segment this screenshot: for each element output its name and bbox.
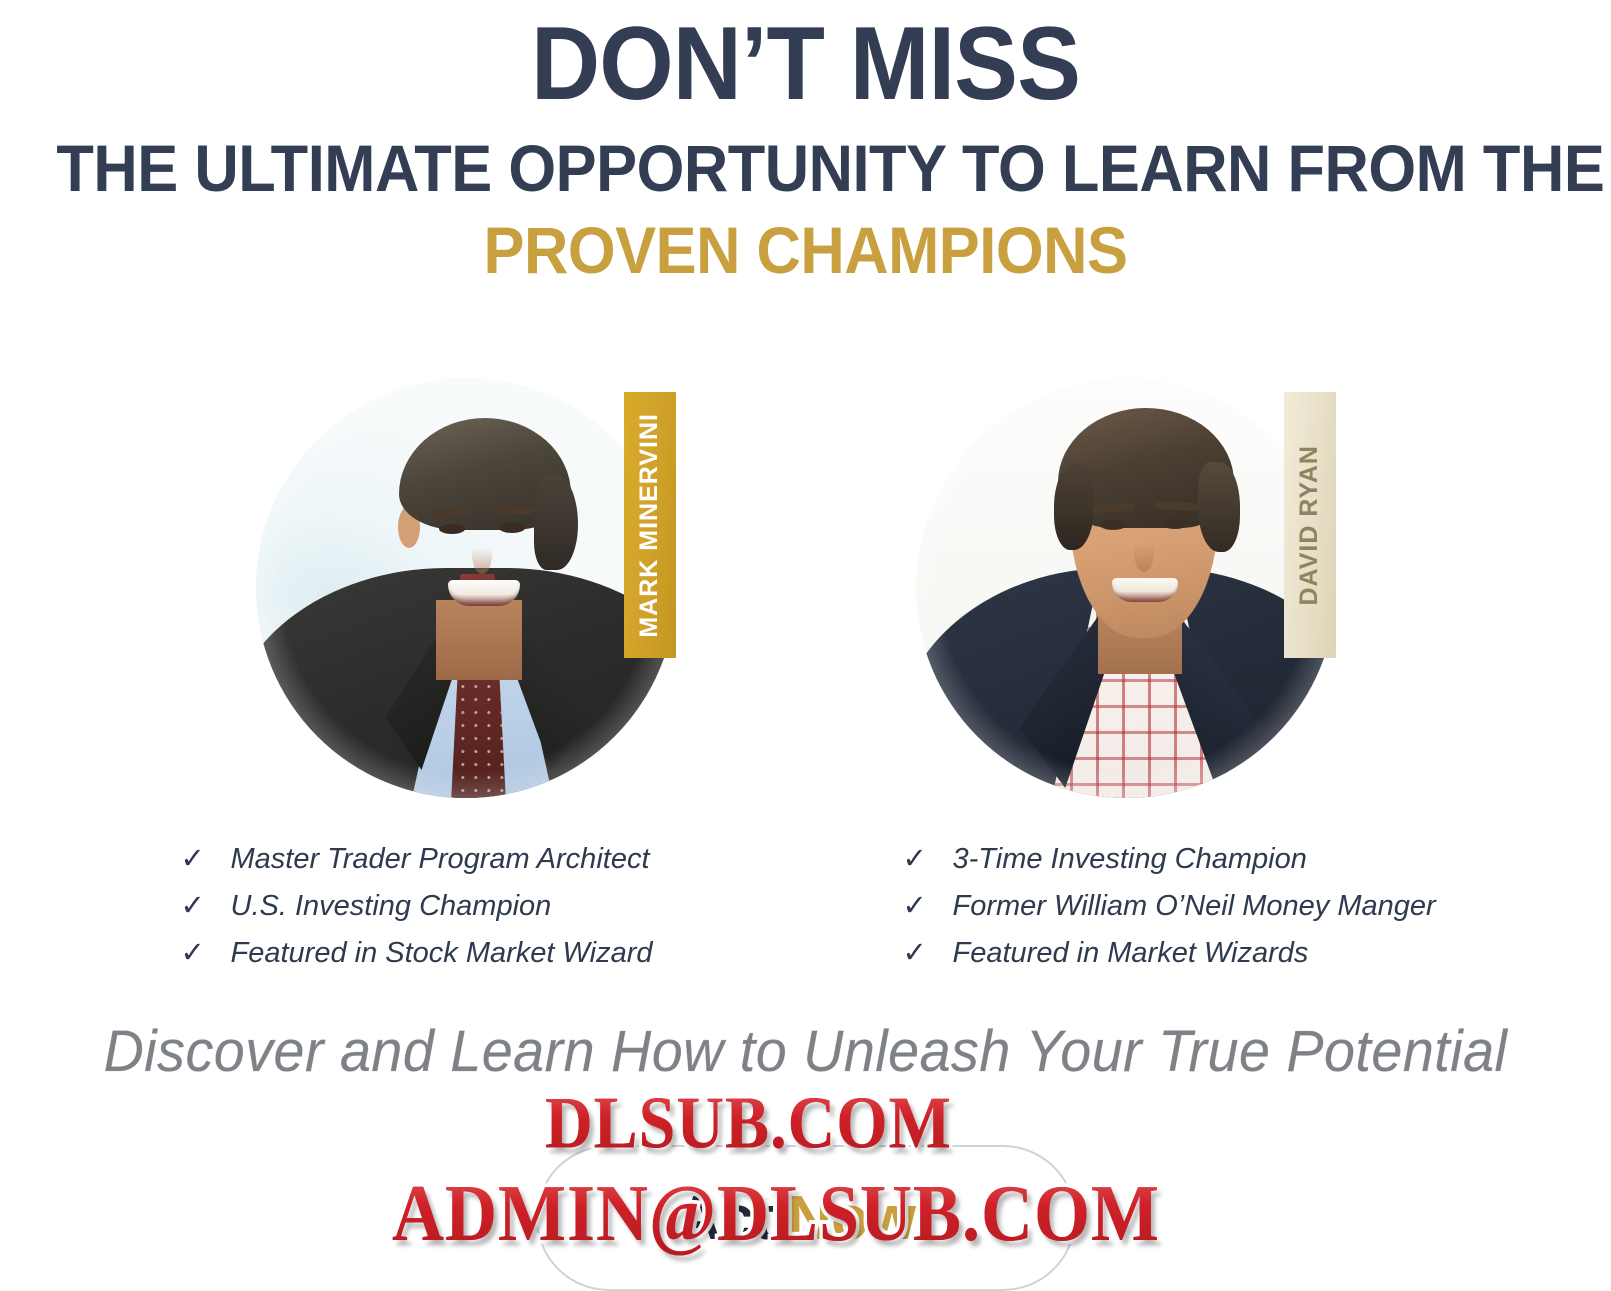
photo-hair-side <box>534 474 578 570</box>
bullet-list-david-ryan: ✓ 3-Time Investing Champion ✓ Former Wil… <box>889 842 1449 983</box>
list-item: ✓ Featured in Market Wizards <box>903 936 1449 970</box>
speaker-card-mark-minervini: MARK MINERVINI <box>226 378 726 818</box>
check-icon: ✓ <box>903 939 927 968</box>
photo-eye-right <box>499 523 525 533</box>
list-item: ✓ Former William O’Neil Money Manger <box>903 889 1449 923</box>
portrait-wrap-david-ryan: DAVID RYAN <box>916 378 1356 818</box>
speaker-photo-david-ryan <box>916 378 1336 798</box>
speaker-photo-mark-minervini <box>256 378 676 798</box>
photo-nose <box>1134 532 1154 572</box>
bullet-list-mark-minervini: ✓ Master Trader Program Architect ✓ U.S.… <box>163 842 723 983</box>
photo-mouth <box>1112 578 1178 602</box>
headline-line-1: DON’T MISS <box>64 8 1546 120</box>
bullet-label: 3-Time Investing Champion <box>953 842 1307 876</box>
name-banner-mark-minervini: MARK MINERVINI <box>624 392 676 658</box>
check-icon: ✓ <box>903 892 927 921</box>
bullet-label: Former William O’Neil Money Manger <box>953 889 1436 923</box>
photo-nose <box>472 536 492 574</box>
list-item: ✓ U.S. Investing Champion <box>181 889 723 923</box>
watermark-site-url-fill: DLSUB.COM <box>545 1081 952 1166</box>
name-banner-label: DAVID RYAN <box>1295 445 1324 606</box>
headline-line-2: THE ULTIMATE OPPORTUNITY TO LEARN FROM T… <box>56 130 1554 206</box>
bullet-label: Master Trader Program Architect <box>231 842 650 876</box>
watermark-email-fill: ADMIN@DLSUB.COM <box>392 1167 1160 1260</box>
headline-line-3: PROVEN CHAMPIONS <box>56 212 1554 288</box>
photo-eye-left <box>439 524 465 534</box>
bullet-label: Featured in Market Wizards <box>953 936 1309 970</box>
photo-eye-right <box>1162 519 1188 529</box>
photo-hair-side-right <box>1198 462 1240 552</box>
check-icon: ✓ <box>181 845 205 874</box>
photo-mouth <box>448 580 520 606</box>
headline-block: DON’T MISS THE ULTIMATE OPPORTUNITY TO L… <box>0 0 1611 288</box>
list-item: ✓ 3-Time Investing Champion <box>903 842 1449 876</box>
tagline: Discover and Learn How to Unleash Your T… <box>32 1018 1579 1086</box>
bullet-label: U.S. Investing Champion <box>231 889 552 923</box>
bullets-row: ✓ Master Trader Program Architect ✓ U.S.… <box>0 842 1611 983</box>
check-icon: ✓ <box>181 892 205 921</box>
name-banner-label: MARK MINERVINI <box>635 413 664 638</box>
list-item: ✓ Featured in Stock Market Wizard <box>181 936 723 970</box>
check-icon: ✓ <box>903 845 927 874</box>
bullet-label: Featured in Stock Market Wizard <box>231 936 653 970</box>
list-item: ✓ Master Trader Program Architect <box>181 842 723 876</box>
photo-hair-side-left <box>1054 464 1094 550</box>
portrait-wrap-mark-minervini: MARK MINERVINI <box>256 378 696 818</box>
speakers-row: MARK MINERVINI <box>0 378 1611 818</box>
check-icon: ✓ <box>181 939 205 968</box>
name-banner-david-ryan: DAVID RYAN <box>1284 392 1336 658</box>
speaker-card-david-ryan: DAVID RYAN <box>886 378 1386 818</box>
photo-eye-left <box>1100 520 1126 530</box>
